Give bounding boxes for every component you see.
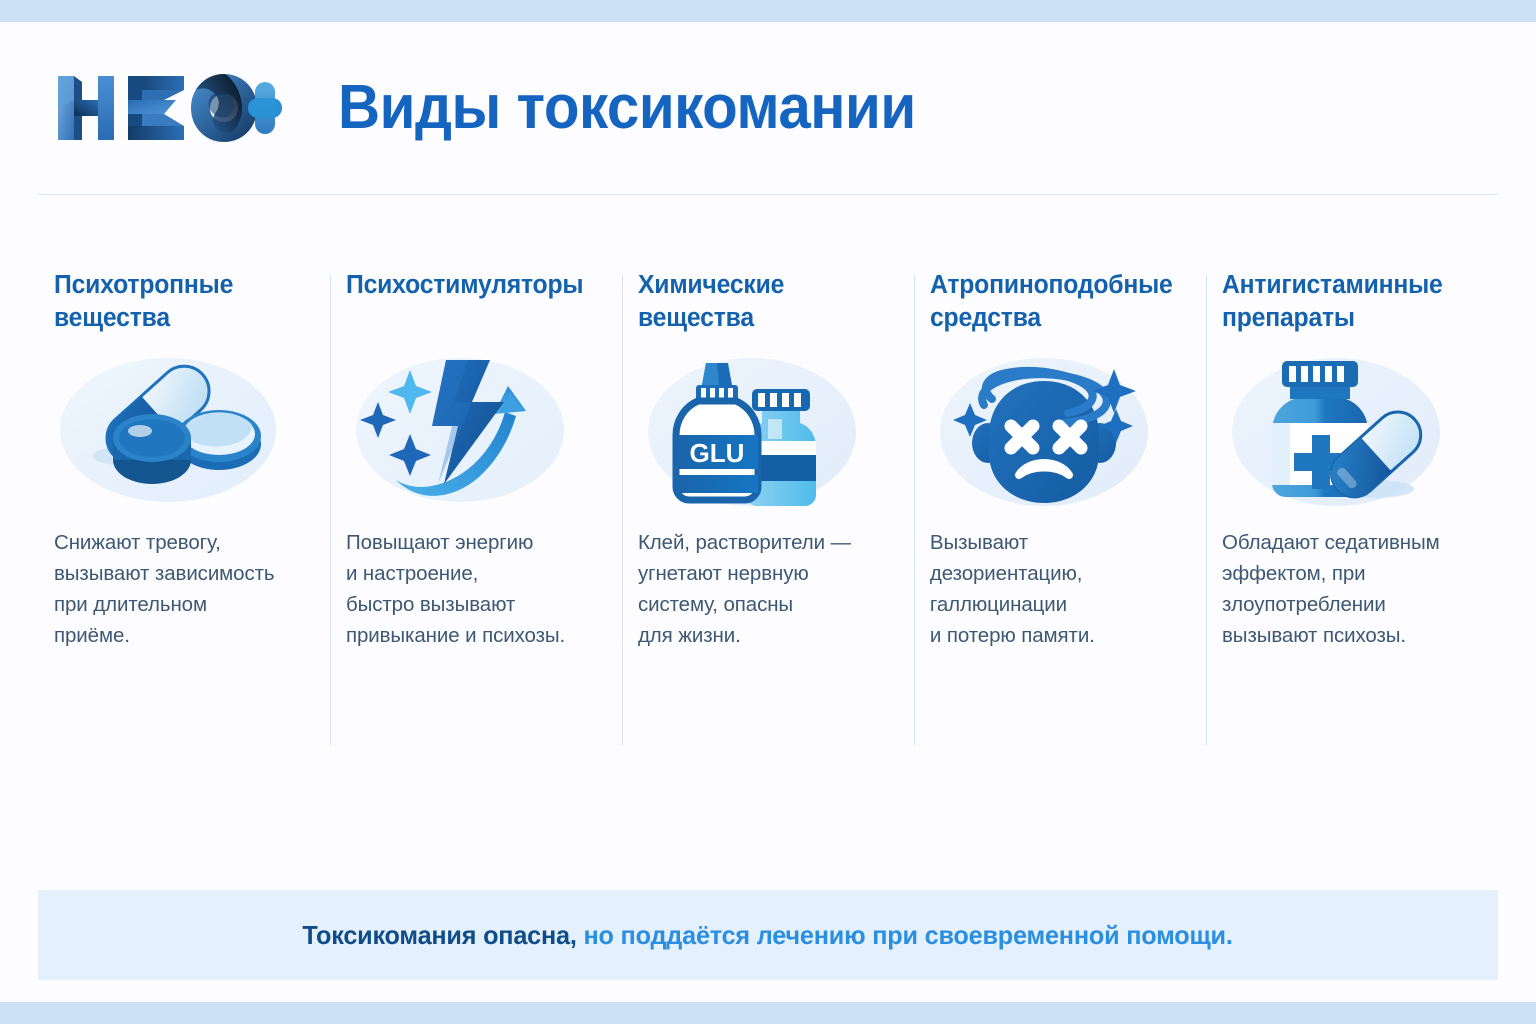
infographic-page: Виды токсикомании Психотропные вещества [0, 0, 1536, 1024]
category-description: Снижают тревогу, вызывают зависимость пр… [54, 527, 304, 652]
footer-text-strong: Токсикомания опасна, [303, 920, 577, 950]
category-title: Антигистаминные препараты [1222, 269, 1464, 337]
category-title: Атропиноподобные средства [930, 269, 1173, 337]
footer-text: Токсикомания опасна, но поддаётся лечени… [303, 920, 1233, 951]
pills-capsule-tablets-icon [56, 352, 286, 512]
bottom-accent-band [0, 1002, 1536, 1024]
category-icon-wrap: GLU [638, 337, 888, 527]
lightning-bolt-arrow-sparkles-icon [348, 352, 578, 512]
neo-plus-logo-icon [52, 70, 284, 146]
category-columns: Психотропные вещества [38, 195, 1498, 890]
category-description: Повыщают энергию и настроение, быстро вы… [346, 527, 596, 652]
category-column-stimulants: Психостимуляторы [330, 269, 622, 890]
category-icon-wrap [346, 337, 596, 527]
category-icon-wrap [930, 337, 1180, 527]
category-description: Обладают седативным эффектом, при злоупо… [1222, 527, 1472, 652]
page-title: Виды токсикомании [338, 77, 916, 139]
top-accent-band [0, 0, 1536, 22]
footer-banner: Токсикомания опасна, но поддаётся лечени… [38, 890, 1498, 980]
category-title: Психостимуляторы [346, 269, 588, 337]
header: Виды токсикомании [38, 22, 1498, 194]
category-column-psychotropic: Психотропные вещества [38, 269, 330, 890]
brand-logo [38, 70, 338, 146]
dizzy-face-sparkles-icon [932, 347, 1162, 517]
category-title: Химические вещества [638, 269, 880, 337]
category-description: Вызывают дезориентацию, галлюцинации и п… [930, 527, 1180, 652]
category-column-antihistamine: Антигистаминные препараты [1206, 269, 1498, 890]
footer-text-light: но поддаётся лечению при своевременной п… [577, 920, 1233, 950]
category-column-atropine: Атропиноподобные средства [914, 269, 1206, 890]
category-icon-wrap [54, 337, 304, 527]
content-canvas: Виды токсикомании Психотропные вещества [0, 22, 1536, 1002]
glue-label: GLU [689, 438, 744, 468]
category-column-chemicals: Химические вещества [622, 269, 914, 890]
category-icon-wrap [1222, 337, 1472, 527]
medicine-bottle-capsule-icon [1224, 347, 1454, 517]
category-description: Клей, растворители — угнетают нервную си… [638, 527, 888, 652]
footer-zone: Токсикомания опасна, но поддаётся лечени… [38, 890, 1498, 1002]
category-title: Психотропные вещества [54, 269, 296, 337]
glue-solvent-bottles-icon: GLU [640, 347, 870, 517]
